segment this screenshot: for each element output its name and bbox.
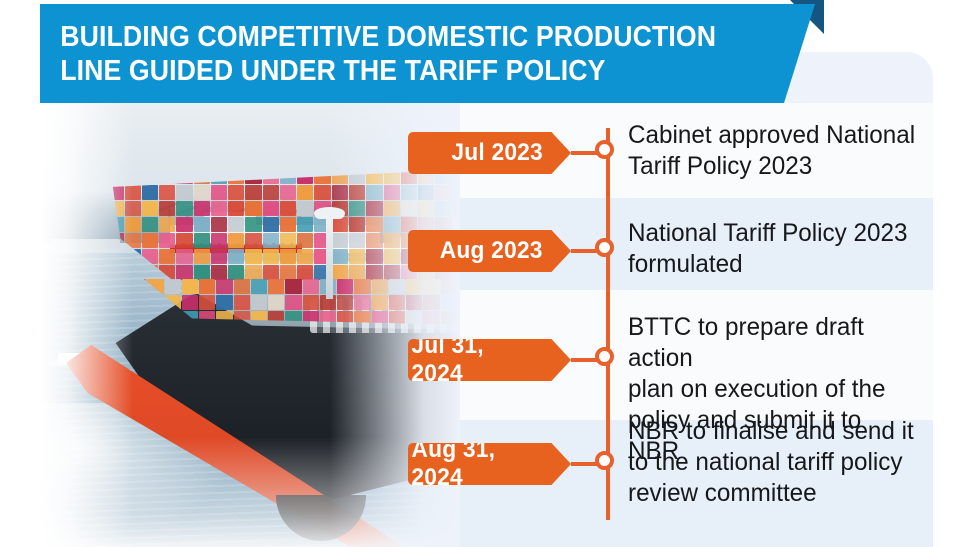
shipping-container: [234, 295, 250, 310]
shipping-container: [297, 265, 313, 280]
shipping-container: [268, 295, 284, 310]
shipping-container: [228, 201, 244, 216]
shipping-container: [251, 295, 267, 310]
timeline-date-badge[interactable]: Aug 2023: [408, 230, 571, 272]
shipping-container: [199, 295, 215, 310]
timeline-node-marker[interactable]: [595, 451, 614, 470]
shipping-container: [280, 249, 296, 264]
shipping-container: [194, 265, 210, 280]
shipping-container: [297, 185, 313, 200]
shipping-container: [280, 217, 296, 232]
shipping-container: [263, 265, 279, 280]
shipping-container: [194, 201, 210, 216]
timeline-node-marker[interactable]: [595, 238, 614, 257]
shipping-container: [297, 201, 313, 216]
shipping-container: [211, 185, 227, 200]
shipping-container: [263, 249, 279, 264]
page-title: BUILDING COMPETITIVE DOMESTIC PRODUCTION…: [40, 20, 716, 88]
shipping-container: [199, 279, 215, 294]
shipping-container: [228, 233, 244, 248]
container-ship-photo: [40, 103, 460, 547]
shipping-container: [211, 217, 227, 232]
shipping-container: [228, 185, 244, 200]
timeline-event-text: Cabinet approved National Tariff Policy …: [628, 120, 919, 182]
shipping-container: [263, 201, 279, 216]
shipping-container: [280, 265, 296, 280]
shipping-container: [194, 185, 210, 200]
shipping-container: [211, 249, 227, 264]
timeline-node-marker[interactable]: [595, 140, 614, 159]
shipping-container: [194, 233, 210, 248]
timeline-date-label: Jul 31, 2024: [411, 332, 541, 388]
shipping-container: [297, 249, 313, 264]
shipping-container: [280, 201, 296, 216]
shipping-container: [280, 185, 296, 200]
shipping-container: [285, 295, 301, 310]
shipping-container: [194, 249, 210, 264]
shipping-container: [303, 295, 319, 310]
shipping-container: [228, 217, 244, 232]
header-banner: BUILDING COMPETITIVE DOMESTIC PRODUCTION…: [40, 4, 815, 103]
timeline-date-label: Aug 31, 2024: [411, 436, 541, 492]
shipping-container: [194, 217, 210, 232]
shipping-container: [234, 279, 250, 294]
shipping-container: [245, 185, 261, 200]
shipping-container: [216, 295, 232, 310]
timeline-event-text: NBR to finalise and send it to the natio…: [628, 416, 919, 509]
shipping-container: [297, 217, 313, 232]
shipping-container: [216, 279, 232, 294]
shipping-container: [228, 249, 244, 264]
shipping-container: [245, 217, 261, 232]
timeline-node-marker[interactable]: [595, 347, 614, 366]
shipping-container: [245, 249, 261, 264]
shipping-container: [263, 185, 279, 200]
timeline-date-badge[interactable]: Jul 2023: [408, 132, 571, 174]
shipping-container: [268, 279, 284, 294]
shipping-container: [245, 233, 261, 248]
shipping-container: [251, 279, 267, 294]
shipping-container: [263, 217, 279, 232]
shipping-container: [263, 233, 279, 248]
shipping-container: [245, 201, 261, 216]
shipping-container: [211, 265, 227, 280]
timeline-date-label: Aug 2023: [439, 237, 542, 265]
timeline-date-badge[interactable]: Aug 31, 2024: [408, 443, 571, 485]
infographic-root: BUILDING COMPETITIVE DOMESTIC PRODUCTION…: [0, 0, 979, 547]
shipping-container: [297, 233, 313, 248]
timeline-date-label: Jul 2023: [451, 139, 543, 167]
shipping-container: [211, 201, 227, 216]
shipping-container: [303, 279, 319, 294]
shipping-container: [211, 233, 227, 248]
shipping-container: [314, 185, 330, 200]
shipping-container: [280, 233, 296, 248]
shipping-container: [285, 279, 301, 294]
shipping-container: [245, 265, 261, 280]
timeline-event-text: National Tariff Policy 2023 formulated: [628, 218, 919, 280]
shipping-container: [228, 265, 244, 280]
timeline-date-badge[interactable]: Jul 31, 2024: [408, 339, 571, 381]
